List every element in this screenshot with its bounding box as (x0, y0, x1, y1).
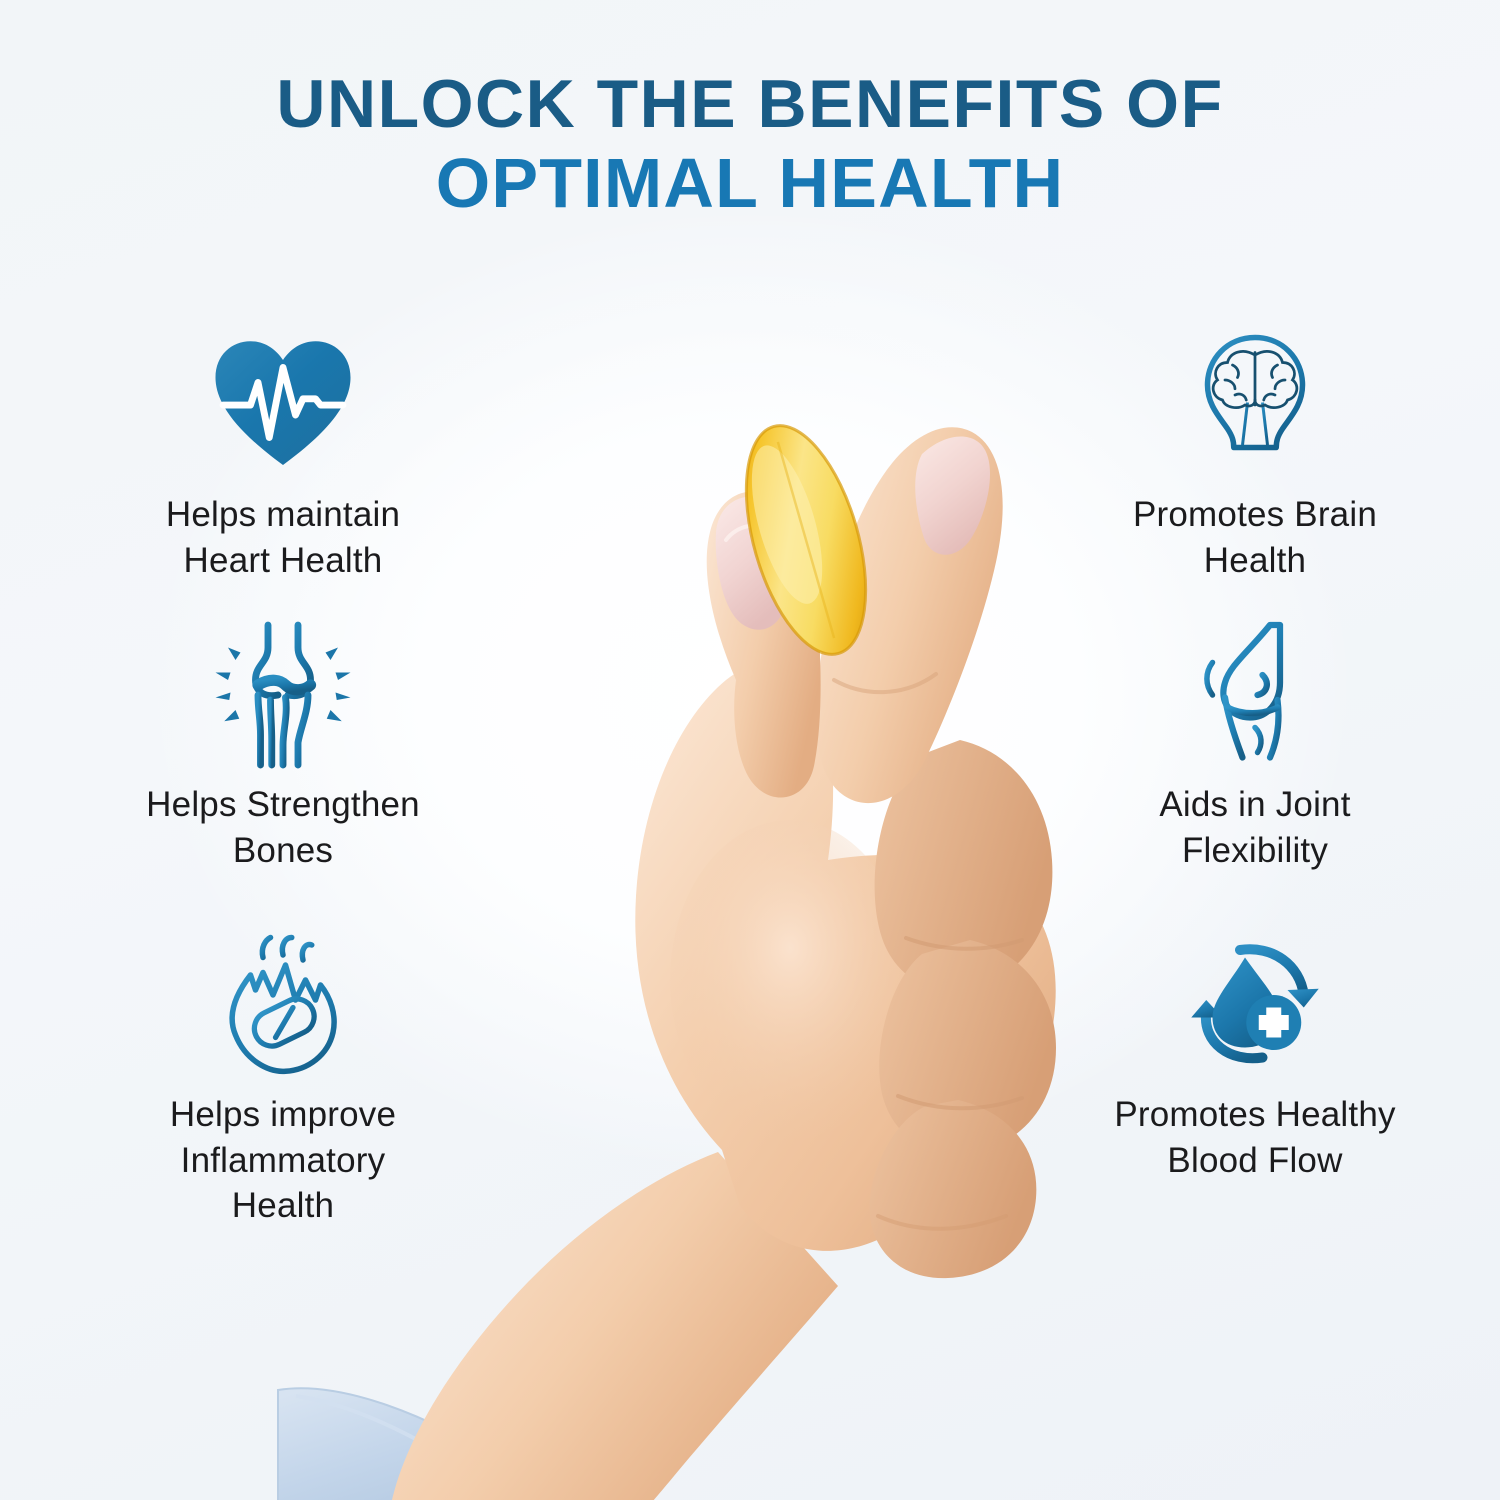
headline-line-1: UNLOCK THE BENEFITS OF (0, 68, 1500, 140)
benefit-label: Promotes Healthy Blood Flow (1114, 1092, 1395, 1183)
bent-knee-joint-icon (1180, 620, 1330, 770)
benefits-infographic: UNLOCK THE BENEFITS OF OPTIMAL HEALTH (0, 0, 1500, 1500)
benefits-column-left: Helps maintain Heart Health (118, 330, 448, 1240)
heart-pulse-icon (208, 330, 358, 480)
blood-drop-cycle-icon (1180, 930, 1330, 1080)
benefit-label: Helps maintain Heart Health (166, 492, 400, 583)
benefit-strengthen-bones: Helps Strengthen Bones (118, 620, 448, 930)
knee-joint-strength-icon (208, 620, 358, 770)
benefit-blood-flow: Promotes Healthy Blood Flow (1090, 930, 1420, 1240)
page-title: UNLOCK THE BENEFITS OF OPTIMAL HEALTH (0, 68, 1500, 220)
benefit-label: Helps improve Inflammatory Health (170, 1092, 396, 1229)
flame-pill-icon (208, 930, 358, 1080)
benefit-heart-health: Helps maintain Heart Health (118, 330, 448, 620)
benefits-column-right: Promotes Brain Health (1090, 330, 1420, 1240)
headline-line-2: OPTIMAL HEALTH (0, 146, 1500, 220)
benefit-joint-flexibility: Aids in Joint Flexibility (1090, 620, 1420, 930)
benefit-inflammatory-health: Helps improve Inflammatory Health (118, 930, 448, 1240)
folded-fingers (870, 740, 1056, 1278)
benefit-label: Aids in Joint Flexibility (1159, 782, 1350, 873)
lightbulb-brain-icon (1180, 330, 1330, 480)
benefit-brain-health: Promotes Brain Health (1090, 330, 1420, 620)
benefit-label: Helps Strengthen Bones (146, 782, 420, 873)
benefit-label: Promotes Brain Health (1133, 492, 1377, 583)
